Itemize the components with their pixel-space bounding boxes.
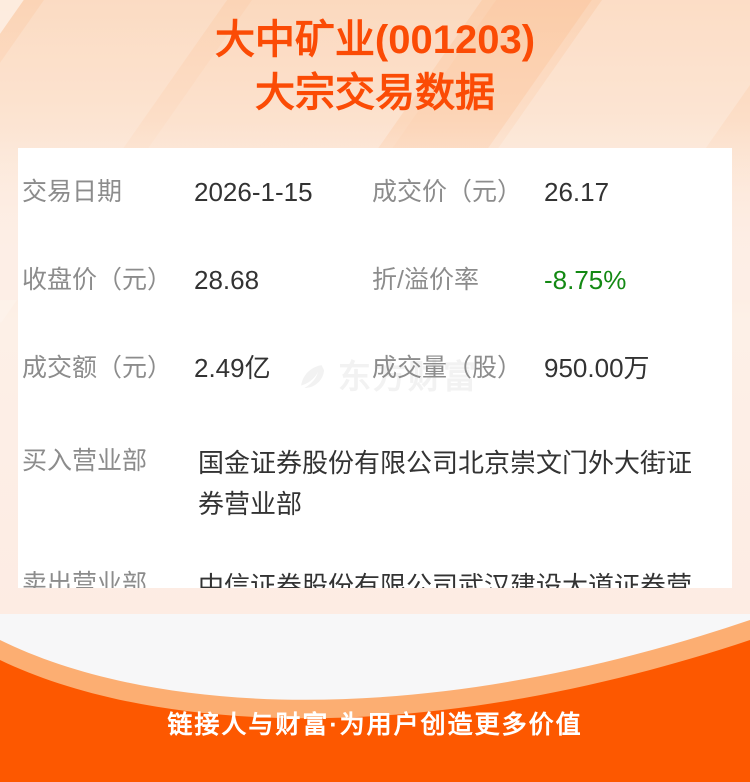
poster-root: 大中矿业(001203) 大宗交易数据 东方财富 交易日期 2026-1-15 … [0,0,750,782]
cell-premium-rate: 折/溢价率 -8.75% [368,262,732,298]
value-trade-date: 2026-1-15 [194,174,313,210]
page-title: 大中矿业(001203) 大宗交易数据 [0,14,750,120]
value-premium-rate: -8.75% [544,262,626,298]
table-row: 成交额（元） 2.49亿 成交量（股） 950.00万 [18,337,732,425]
label-turnover: 成交额（元） [22,350,194,386]
value-deal-price: 26.17 [544,174,609,210]
table-row: 交易日期 2026-1-15 成交价（元） 26.17 [18,148,732,249]
label-premium-rate: 折/溢价率 [372,262,544,298]
label-deal-price: 成交价（元） [372,174,544,210]
footer-wave-shape [0,604,750,782]
data-rows: 交易日期 2026-1-15 成交价（元） 26.17 收盘价（元） 28.68… [18,148,732,588]
value-volume: 950.00万 [544,350,650,386]
label-volume: 成交量（股） [372,350,544,386]
data-card: 东方财富 交易日期 2026-1-15 成交价（元） 26.17 收盘价（元） … [18,148,732,588]
cell-buyer-branch: 买入营业部 国金证券股份有限公司北京崇文门外大街证券营业部 [18,443,732,525]
label-close-price: 收盘价（元） [22,262,194,298]
footer-slogan: 链接人与财富·为用户创造更多价值 [0,708,750,742]
cell-trade-date: 交易日期 2026-1-15 [18,174,368,210]
label-buyer-branch: 买入营业部 [22,443,198,479]
table-row: 收盘价（元） 28.68 折/溢价率 -8.75% [18,249,732,337]
label-trade-date: 交易日期 [22,174,194,210]
cell-deal-price: 成交价（元） 26.17 [368,174,732,210]
title-line-subject: 大宗交易数据 [0,67,750,120]
value-close-price: 28.68 [194,262,259,298]
table-row: 卖出营业部 中信证券股份有限公司武汉建设大道证券营业部 [18,556,732,588]
label-seller-branch: 卖出营业部 [22,566,198,588]
footer-wave [0,604,750,782]
cell-volume: 成交量（股） 950.00万 [368,350,732,386]
cell-close-price: 收盘价（元） 28.68 [18,262,368,298]
cell-turnover: 成交额（元） 2.49亿 [18,350,368,386]
value-seller-branch: 中信证券股份有限公司武汉建设大道证券营业部 [198,566,708,588]
title-line-stock: 大中矿业(001203) [0,14,750,67]
cell-seller-branch: 卖出营业部 中信证券股份有限公司武汉建设大道证券营业部 [18,566,732,588]
value-buyer-branch: 国金证券股份有限公司北京崇文门外大街证券营业部 [198,443,708,525]
table-row: 买入营业部 国金证券股份有限公司北京崇文门外大街证券营业部 [18,425,732,556]
value-turnover: 2.49亿 [194,350,271,386]
